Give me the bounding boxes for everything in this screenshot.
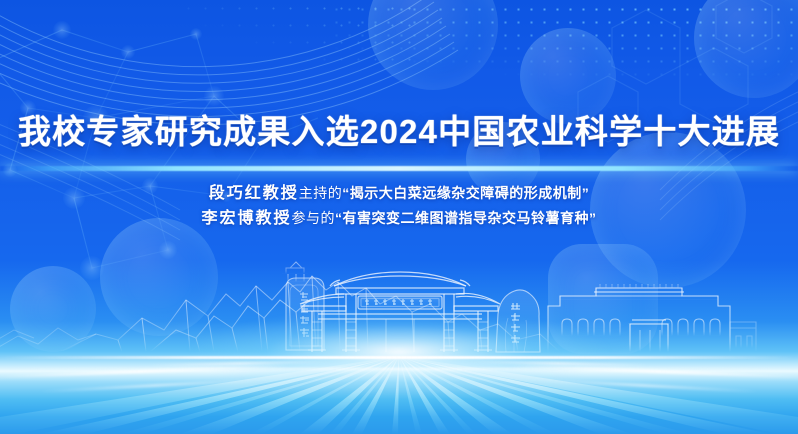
- researcher-name-2: 李宏博教授: [201, 210, 291, 227]
- title-divider: [0, 166, 798, 171]
- researcher-name-1: 段巧红教授: [209, 185, 299, 202]
- headline-container: 我校专家研究成果入选2024中国农业科学十大进展: [0, 112, 798, 152]
- project-title-2: “有害突变二维图谱指导杂交马铃薯育种”: [335, 210, 597, 226]
- horizon-line-secondary: [0, 368, 798, 370]
- horizon-line: [0, 356, 798, 359]
- bubble-decoration: [10, 266, 96, 352]
- bubble-decoration: [520, 28, 616, 124]
- subtitle-container: 段巧红教授主持的“揭示大白菜远缘杂交障碍的形成机制” 李宏博教授参与的“有害突变…: [0, 181, 798, 231]
- subtitle-line-1: 段巧红教授主持的“揭示大白菜远缘杂交障碍的形成机制”: [0, 181, 798, 206]
- connector-2: 参与的: [292, 210, 336, 226]
- gate-plaque-text: [365, 299, 432, 305]
- banner: 我校专家研究成果入选2024中国农业科学十大进展 段巧红教授主持的“揭示大白菜远…: [0, 0, 798, 434]
- project-title-1: “揭示大白菜远缘杂交障碍的形成机制”: [342, 185, 589, 201]
- page-title: 我校专家研究成果入选2024中国农业科学十大进展: [18, 112, 780, 152]
- subtitle-line-2: 李宏博教授参与的“有害突变二维图谱指导杂交马铃薯育种”: [0, 206, 798, 231]
- connector-1: 主持的: [299, 185, 343, 201]
